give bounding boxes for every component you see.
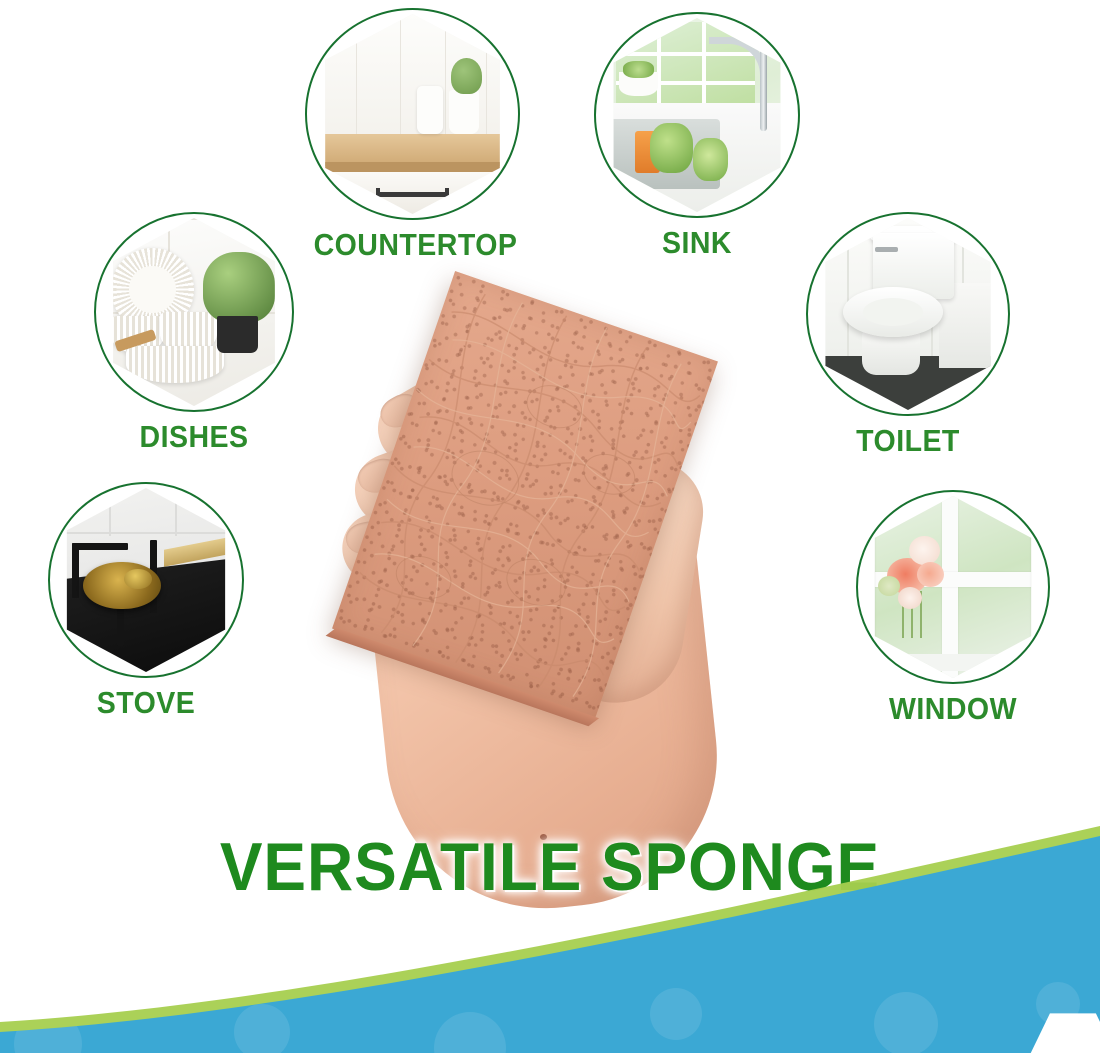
badge-photo-window xyxy=(862,496,1044,678)
use-case-label-countertop: COUNTERTOP xyxy=(314,227,512,263)
brand-banner: R xyxy=(0,818,1100,1053)
use-case-label-sink: SINK xyxy=(602,225,792,261)
badge-photo-stove xyxy=(54,488,238,672)
brand-wordmark xyxy=(973,1013,1100,1053)
badge-ring-stove xyxy=(48,482,244,678)
badge-photo-dishes xyxy=(100,218,288,406)
badge-photo-countertop xyxy=(311,14,514,214)
use-case-window: WINDOW xyxy=(856,490,1050,727)
use-case-label-toilet: TOILET xyxy=(814,423,1002,459)
badge-photo-sink xyxy=(600,18,794,212)
brand-logo: R xyxy=(786,947,1078,1039)
badge-photo-toilet xyxy=(812,218,1004,410)
use-case-sink: SINK xyxy=(594,12,800,261)
use-case-countertop: COUNTERTOP xyxy=(305,8,520,263)
badge-ring-countertop xyxy=(305,8,520,220)
brand-logo-mark: R xyxy=(786,947,1100,1053)
badge-ring-sink xyxy=(594,12,800,218)
use-case-dishes: DISHES xyxy=(94,212,294,455)
use-case-toilet: TOILET xyxy=(806,212,1010,459)
badge-ring-window xyxy=(856,490,1050,684)
badge-ring-toilet xyxy=(806,212,1010,416)
use-case-label-window: WINDOW xyxy=(864,691,1042,727)
badge-ring-dishes xyxy=(94,212,294,412)
use-case-label-dishes: DISHES xyxy=(102,419,286,455)
use-case-label-stove: STOVE xyxy=(56,685,236,721)
product-infographic: COUNTERTOP xyxy=(0,0,1100,1053)
use-case-stove: STOVE xyxy=(48,482,244,721)
